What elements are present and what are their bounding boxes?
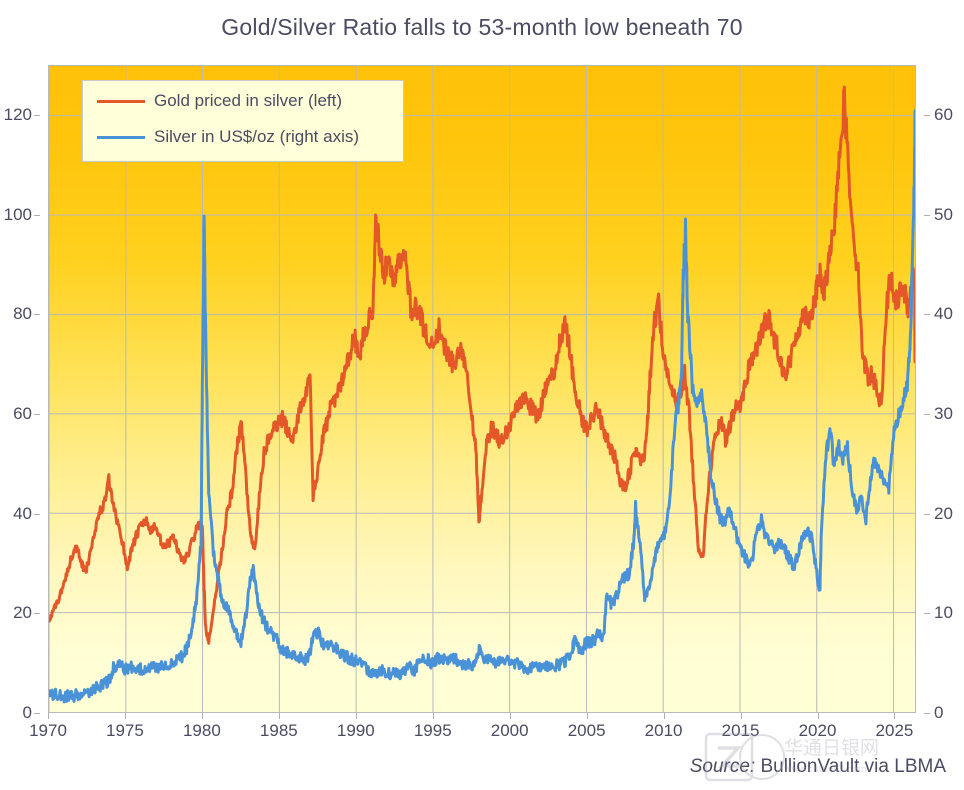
right-axis-tick: 20: [934, 504, 953, 524]
legend-label-gold-ratio: Gold priced in silver (left): [154, 91, 342, 111]
right-axis-tickmark: [924, 314, 930, 315]
bottom-axis-tick: 2005: [568, 721, 606, 741]
bottom-axis-tick: 2020: [799, 721, 837, 741]
bottom-axis: 1970197519801985199019952000200520102015…: [48, 713, 916, 747]
bottom-axis-tick: 1970: [29, 721, 67, 741]
bottom-axis-tickmark: [125, 713, 126, 719]
left-axis-tick: 80: [13, 304, 32, 324]
left-axis-tick: 0: [23, 703, 32, 723]
bottom-axis-tick: 2015: [722, 721, 760, 741]
right-axis-tickmark: [924, 215, 930, 216]
right-axis-tick: 60: [934, 105, 953, 125]
right-axis-tick: 50: [934, 205, 953, 225]
left-axis-tickmark: [34, 514, 40, 515]
chart-title: Gold/Silver Ratio falls to 53-month low …: [0, 14, 964, 41]
bottom-axis-tick: 1995: [414, 721, 452, 741]
left-axis-tick: 120: [4, 105, 32, 125]
left-axis: 020406080100120: [0, 65, 40, 713]
left-axis-tick: 60: [13, 404, 32, 424]
left-axis-tickmark: [34, 414, 40, 415]
left-axis-tickmark: [34, 713, 40, 714]
legend-swatch-silver: [97, 136, 145, 139]
bottom-axis-tickmark: [356, 713, 357, 719]
right-axis-tickmark: [924, 414, 930, 415]
bottom-axis-tick: 1990: [337, 721, 375, 741]
left-axis-tick: 20: [13, 603, 32, 623]
source-text: BullionVault via LBMA: [755, 756, 946, 777]
right-axis: 0102030405060: [924, 65, 964, 713]
bottom-axis-tickmark: [202, 713, 203, 719]
bottom-axis-tickmark: [48, 713, 49, 719]
right-axis-tickmark: [924, 514, 930, 515]
bottom-axis-tick: 2010: [645, 721, 683, 741]
legend-item-gold-ratio: Gold priced in silver (left): [97, 89, 342, 113]
left-axis-tickmark: [34, 115, 40, 116]
right-axis-tick: 10: [934, 603, 953, 623]
right-axis-tickmark: [924, 613, 930, 614]
bottom-axis-tick: 2025: [876, 721, 914, 741]
series-lines: [49, 66, 915, 712]
left-axis-tickmark: [34, 215, 40, 216]
left-axis-tick: 40: [13, 504, 32, 524]
legend-item-silver: Silver in US$/oz (right axis): [97, 125, 359, 149]
bottom-axis-tick: 1980: [183, 721, 221, 741]
right-axis-tickmark: [924, 115, 930, 116]
bottom-axis-tickmark: [741, 713, 742, 719]
bottom-axis-tickmark: [433, 713, 434, 719]
right-axis-tickmark: [924, 713, 930, 714]
right-axis-tick: 40: [934, 304, 953, 324]
bottom-axis-tick: 2000: [491, 721, 529, 741]
legend-label-silver: Silver in US$/oz (right axis): [154, 127, 359, 147]
legend: Gold priced in silver (left) Silver in U…: [82, 80, 404, 162]
bottom-axis-tickmark: [664, 713, 665, 719]
left-axis-tickmark: [34, 314, 40, 315]
bottom-axis-tickmark: [818, 713, 819, 719]
bottom-axis-tick: 1975: [106, 721, 144, 741]
source-prefix: Source:: [690, 756, 755, 777]
bottom-axis-tick: 1985: [260, 721, 298, 741]
bottom-axis-tickmark: [587, 713, 588, 719]
bottom-axis-tickmark: [894, 713, 895, 719]
legend-swatch-gold-ratio: [97, 100, 145, 103]
bottom-axis-tickmark: [279, 713, 280, 719]
source-attribution: Source: BullionVault via LBMA: [690, 756, 946, 778]
left-axis-tickmark: [34, 613, 40, 614]
plot-area: [48, 65, 916, 713]
chart-root: Gold/Silver Ratio falls to 53-month low …: [0, 0, 964, 790]
right-axis-tick: 30: [934, 404, 953, 424]
right-axis-tick: 0: [934, 703, 943, 723]
bottom-axis-tickmark: [510, 713, 511, 719]
left-axis-tick: 100: [4, 205, 32, 225]
